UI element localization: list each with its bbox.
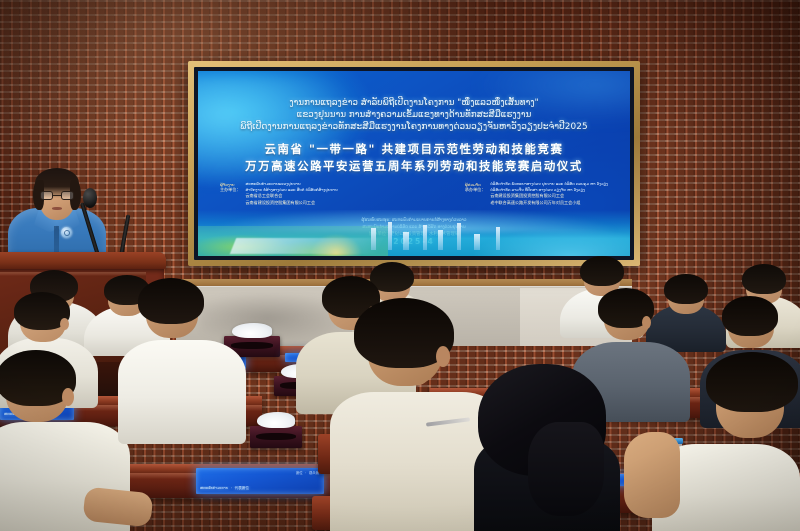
podium-top-surface [0,252,166,269]
person-long-hair-lower [528,422,604,516]
nameplate-front-1[interactable]: 席位 · 观众席 ສະຫະພັນກຳມະບານ · 代表席位 [196,468,324,494]
credits-left-cn-lines: 云南省总工会联合会 云南省建设投资控股集团有限公司工会 [245,193,337,206]
audience-person-front-5 [624,386,800,531]
credits-left-cn-label: 主办单位： [220,187,240,194]
cityscape-building [423,225,427,250]
person-hair [722,296,778,336]
person-ear [60,318,69,330]
audience-person-front-1 [0,362,130,531]
credits-right-lao-lines: ບໍລິສັດຈຳກັດ ພັດທະນາທາງດ່ວນ ຢຸນນານ ແລະ ບ… [490,181,608,193]
speaker-at-podium [8,168,106,264]
credits-right-cn-label: 承办单位： [465,187,485,194]
speaker-emblem-badge [61,227,72,238]
person-arm [82,487,153,528]
audience-person-front-4 [474,364,620,531]
credits-right-labels: ຜູ້ຮ່ວມຈັດ 承办单位： [465,181,485,206]
presentation-screen: ງານການແຖລງຂ່າວ ສຳລັບພິຖີເປີດງານໂຄງການ "ໜ… [198,71,630,256]
speaker-mouth [52,207,62,210]
conference-hall-photo: ງານການແຖລງຂ່າວ ສຳລັບພິຖີເປີດງານໂຄງການ "ໜ… [0,0,800,531]
person-hand [624,432,680,518]
slide-cityscape-illustration [198,210,630,256]
credits-left-labels: ຜູ້ຈັດງານ 主办单位： [220,181,240,206]
nameplate-secondary-text: 席位 · 观众席 [296,470,319,475]
slide-chinese-line-2: 万万高速公路平安运营五周年系列劳动和技能竞赛启动仪式 [198,158,630,174]
slide-chinese-line-1: 云南省 "一带一路" 共建项目示范性劳动和技能竞赛 [198,141,630,157]
slide-lao-line-3: ພິຖີເປີດງານການແຖລງຂ່າວທັກສະສີມືແຮງງານໂຄງ… [198,122,630,132]
audience-area: 席位 · 观众席 ສະຫະພັນກຳມະບານ · 代表席位 [0,268,800,531]
cityscape-building [388,222,392,250]
person-hair [706,352,798,412]
person-shirt [118,340,246,444]
credits-left-lao-lines: ສະຫະພັນກຳມະບານແຂວງຢຸນນານ ສຳນັກງານ ກໍ່ສ້າ… [245,181,337,193]
cityscape-highway [229,238,382,254]
credits-right-values: ບໍລິສັດຈຳກັດ ພັດທະນາທາງດ່ວນ ຢຸນນານ ແລະ ບ… [490,181,608,206]
nameplate-text: ສະຫະພັນກຳມະບານ · 代表席位 [200,486,320,491]
person-hair [138,278,204,324]
slide-credits-row: ຜູ້ຈັດງານ 主办单位： ສະຫະພັນກຳມະບານແຂວງຢຸນນານ… [220,181,608,206]
slide-credits-right: ຜູ້ຮ່ວມຈັດ 承办单位： ບໍລິສັດຈຳກັດ ພັດທະນາທາງ… [465,181,608,206]
credits-left-cn-line-2: 云南省建设投资控股集团有限公司工会 [245,200,337,207]
person-hair [742,264,786,294]
screen-bezel: ງານການແຖລງຂ່າວ ສຳລັບພິຖີເປີດງານໂຄງການ "ໜ… [194,67,634,260]
cityscape-building [371,228,376,250]
person-ear [642,316,651,329]
cityscape-glow-right [431,216,630,256]
tissue-box-front[interactable] [250,426,302,448]
speaker-glasses-icon [40,191,74,200]
credits-right-cn-line-2: 老中联合高速公路开发有限公司万年对员工会小组 [490,200,608,207]
credits-right-cn-lines: 云南建设投资集团投资控股有限公司工会 老中联合高速公路开发有限公司万年对员工会小… [490,193,608,206]
slide-credits-left: ຜູ້ຈັດງານ 主办单位： ສະຫະພັນກຳມະບານແຂວງຢຸນນານ… [220,181,338,206]
tissue-paper [257,412,294,428]
credits-left-values: ສະຫະພັນກຳມະບານແຂວງຢຸນນານ ສຳນັກງານ ກໍ່ສ້າ… [245,181,337,206]
led-screen-frame: ງານການແຖລງຂ່າວ ສຳລັບພິຖີເປີດງານໂຄງການ "ໜ… [188,61,640,266]
audience-person-front-2 [118,288,246,440]
person-hair [580,256,624,286]
slide-lao-line-1: ງານການແຖລງຂ່າວ ສຳລັບພິຖີເປີດງານໂຄງການ "ໜ… [198,98,630,108]
microphone-head-icon [83,188,97,208]
person-ear [436,346,450,367]
person-ear [62,388,74,406]
cityscape-building [403,232,409,250]
slide-lao-line-2: ແຂວງຢຸນນານ ການສຳງຄວາມເຂັ້ມແຂງທາງດ້ານທັກສ… [198,110,630,120]
